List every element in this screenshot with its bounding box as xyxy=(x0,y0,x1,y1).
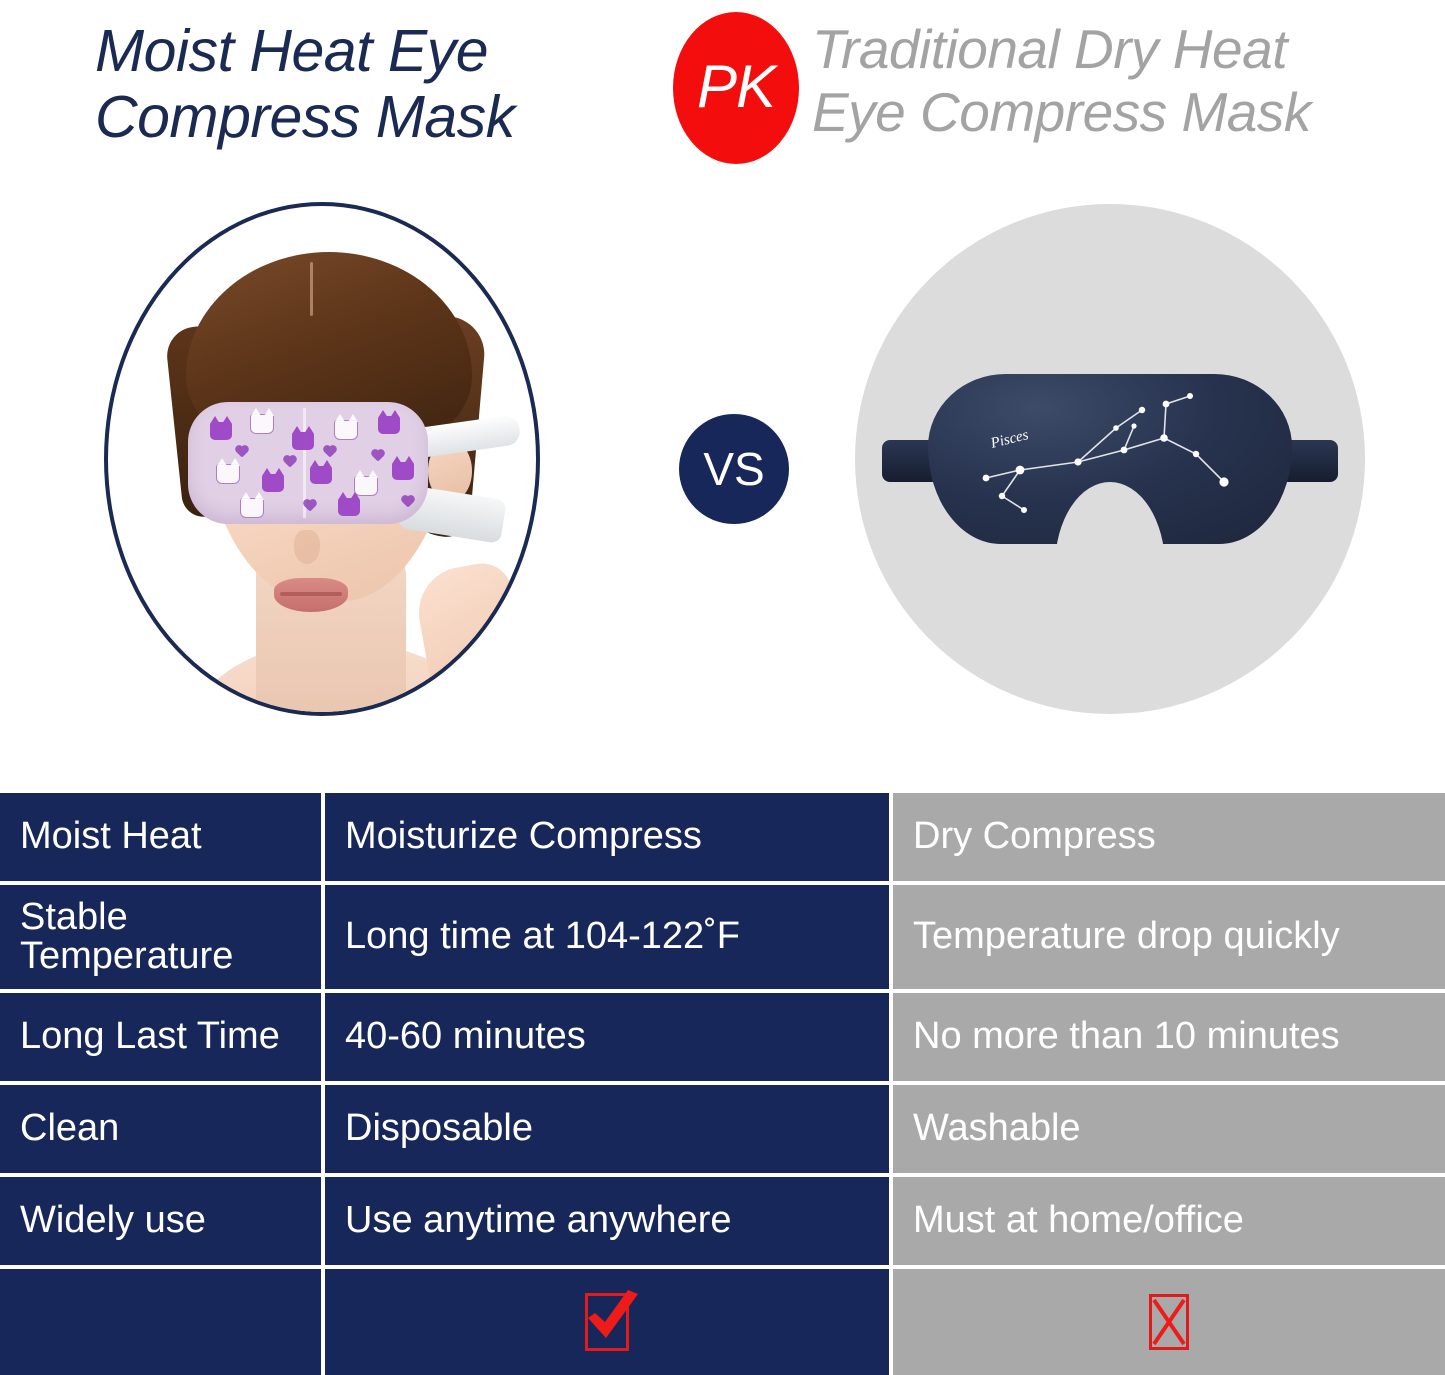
page-title-right-line1: Traditional Dry Heat xyxy=(812,18,1432,81)
dry-heat-value-cell: Dry Compress xyxy=(893,793,1445,881)
moist-heat-product-photo xyxy=(104,202,540,716)
feature-label-cell: Clean xyxy=(0,1085,325,1173)
table-row: Moist Heat Moisturize Compress Dry Compr… xyxy=(0,793,1445,885)
dry-heat-value-cell: Washable xyxy=(893,1085,1445,1173)
dry-heat-value-cell: No more than 10 minutes xyxy=(893,993,1445,1081)
page-title-left-line2: Compress Mask xyxy=(95,84,655,150)
moist-heat-verdict-cell xyxy=(325,1269,893,1375)
dry-heat-product-photo: Pisces xyxy=(855,204,1365,714)
nose-shape xyxy=(294,530,320,564)
feature-label-cell: Widely use xyxy=(0,1177,325,1265)
feature-label-cell: Moist Heat xyxy=(0,793,325,881)
table-row: Widely use Use anytime anywhere Must at … xyxy=(0,1177,1445,1269)
pk-badge: PK xyxy=(673,12,799,164)
product-gallery: VS xyxy=(0,190,1445,770)
check-mark-box xyxy=(585,1293,629,1351)
page-title-left: Moist Heat Eye Compress Mask xyxy=(95,18,655,150)
moist-heat-value-cell: Long time at 104-122˚F xyxy=(325,885,893,989)
check-mark-icon xyxy=(582,1288,644,1350)
woman-wearing-mask-illustration xyxy=(108,206,536,712)
table-row-verdict xyxy=(0,1269,1445,1375)
vs-badge: VS xyxy=(679,414,789,524)
dry-heat-verdict-cell xyxy=(893,1269,1445,1375)
feature-label-line2: Temperature xyxy=(20,937,233,976)
moist-heat-value-cell: 40-60 minutes xyxy=(325,993,893,1081)
dry-heat-value-cell: Temperature drop quickly xyxy=(893,885,1445,989)
cross-mark-box xyxy=(1149,1294,1189,1350)
lips-shape xyxy=(274,578,348,612)
pk-badge-label: PK xyxy=(697,52,775,121)
table-row: Stable Temperature Long time at 104-122˚… xyxy=(0,885,1445,993)
moist-heat-value-cell: Disposable xyxy=(325,1085,893,1173)
page-title-right: Traditional Dry Heat Eye Compress Mask xyxy=(812,18,1432,143)
feature-label-cell xyxy=(0,1269,325,1375)
cross-mark-icon xyxy=(1150,1295,1188,1349)
vs-badge-label: VS xyxy=(703,442,764,496)
feature-label-line1: Stable xyxy=(20,898,128,937)
cat-print-eye-mask xyxy=(188,402,428,524)
feature-label-cell: Long Last Time xyxy=(0,993,325,1081)
table-row: Clean Disposable Washable xyxy=(0,1085,1445,1177)
moist-heat-value-cell: Moisturize Compress xyxy=(325,793,893,881)
table-row: Long Last Time 40-60 minutes No more tha… xyxy=(0,993,1445,1085)
silk-sleep-mask-illustration: Pisces xyxy=(880,364,1340,554)
pisces-label: Pisces xyxy=(988,427,1030,452)
moist-heat-value-cell: Use anytime anywhere xyxy=(325,1177,893,1265)
comparison-table: Moist Heat Moisturize Compress Dry Compr… xyxy=(0,793,1445,1375)
page-title-left-line1: Moist Heat Eye xyxy=(95,18,655,84)
header-banner: Moist Heat Eye Compress Mask PK Traditio… xyxy=(0,0,1445,190)
page-title-right-line2: Eye Compress Mask xyxy=(812,81,1432,144)
dry-heat-value-cell: Must at home/office xyxy=(893,1177,1445,1265)
feature-label-cell: Stable Temperature xyxy=(0,885,325,989)
